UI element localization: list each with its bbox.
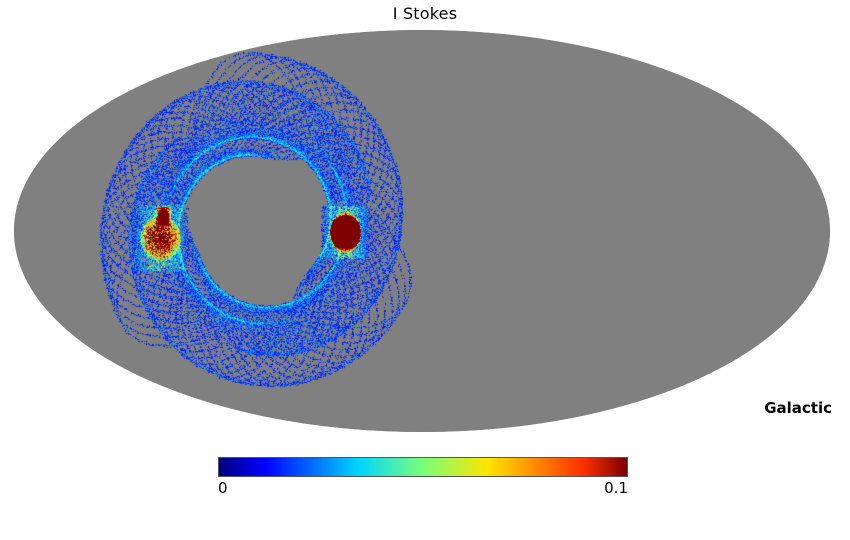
- coordinate-system-label: Galactic: [764, 399, 832, 417]
- mollweide-map: [14, 30, 830, 432]
- colorbar: [218, 457, 628, 477]
- colorbar-max-label: 0.1: [604, 479, 628, 497]
- colorbar-canvas: [219, 458, 627, 476]
- sky-map-figure: I Stokes Galactic 0 0.1: [0, 0, 850, 540]
- page-title: I Stokes: [0, 4, 850, 23]
- healpix-scan-map: [14, 30, 830, 432]
- sky-ellipse: [14, 30, 830, 432]
- colorbar-min-label: 0: [218, 479, 228, 497]
- colorbar-gradient: [218, 457, 628, 477]
